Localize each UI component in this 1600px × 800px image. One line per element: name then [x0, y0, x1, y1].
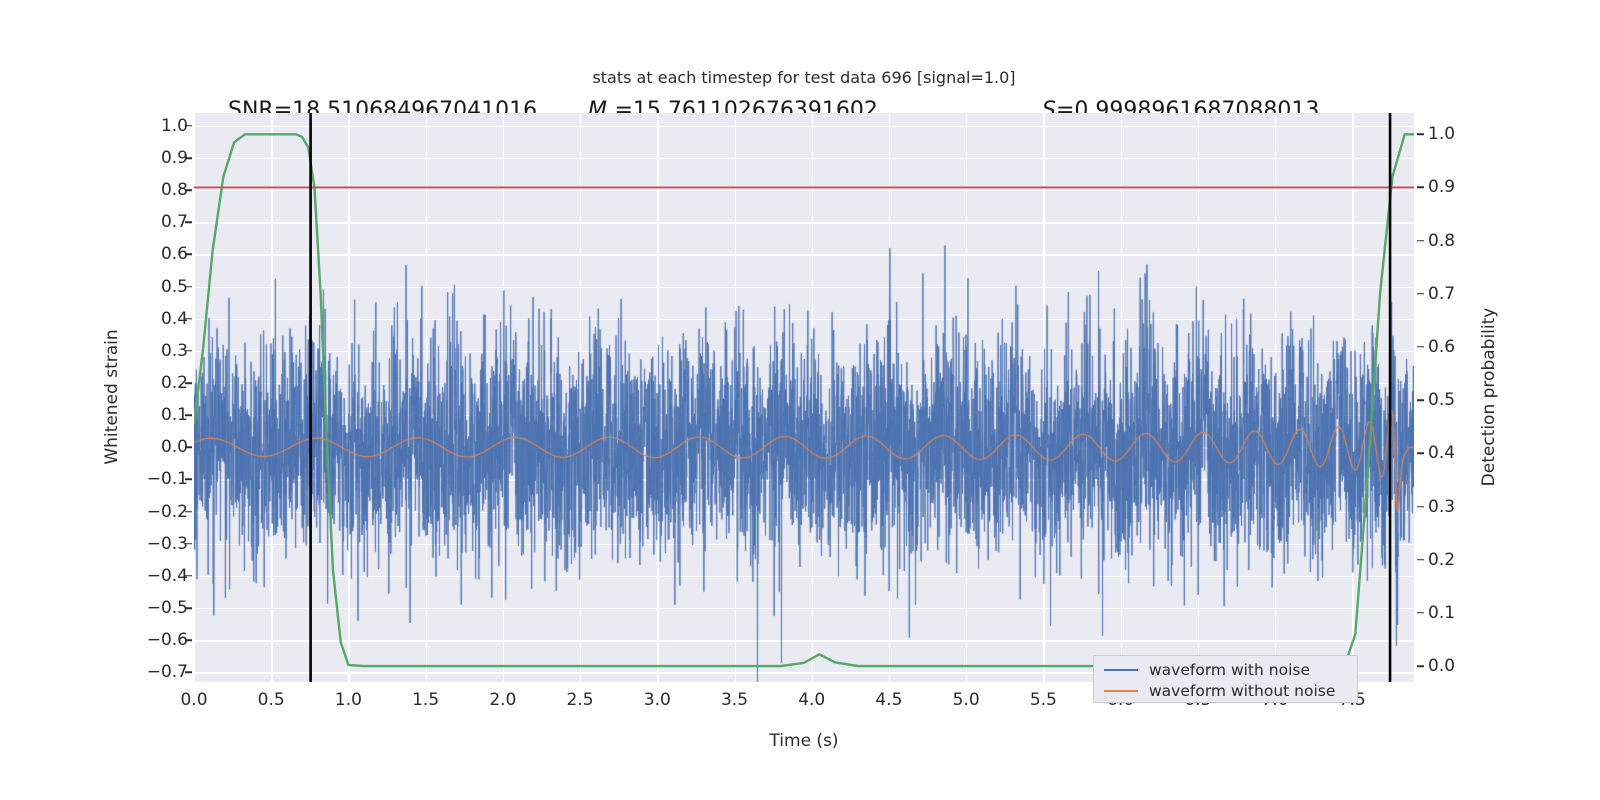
y-tick-label-right: 0.4 [1428, 443, 1455, 463]
y-tick-mark-left [185, 286, 192, 288]
y-tick-label-right: 0.8 [1428, 231, 1455, 251]
y-tick-mark-left [185, 575, 192, 577]
y-tick-mark-left [185, 350, 192, 352]
y-tick-mark-left [185, 318, 192, 320]
y-tick-label-left: −0.7 [147, 662, 188, 682]
x-axis-label: Time (s) [769, 731, 838, 751]
x-tick-label: 4.0 [798, 690, 825, 710]
y-tick-label-right: 0.9 [1428, 177, 1455, 197]
y-tick-label-left: −0.1 [147, 469, 188, 489]
y-tick-mark-left [185, 447, 192, 449]
x-tick-label: 3.0 [644, 690, 671, 710]
y-tick-mark-right [1417, 665, 1424, 667]
legend-label-without-noise: waveform without noise [1149, 682, 1335, 700]
y-tick-label-left: 0.1 [161, 405, 188, 425]
y-tick-mark-right [1417, 240, 1424, 242]
y-tick-mark-right [1417, 399, 1424, 401]
y-tick-mark-left [185, 414, 192, 416]
y-tick-mark-right [1417, 612, 1424, 614]
y-tick-label-left: 1.0 [161, 116, 188, 136]
y-tick-mark-right [1417, 453, 1424, 455]
y-tick-mark-right [1417, 134, 1424, 136]
legend-swatch-with-noise [1104, 669, 1138, 671]
y-tick-label-left: 0.3 [161, 341, 188, 361]
matplotlib-figure: stats at each timestep for test data 696… [0, 0, 1600, 800]
y-tick-label-left: −0.4 [147, 566, 188, 586]
y-tick-label-left: −0.2 [147, 502, 188, 522]
y-tick-mark-left [185, 382, 192, 384]
x-tick-label: 0.0 [180, 690, 207, 710]
detection-probability-line [194, 134, 1414, 666]
x-tick-label: 1.0 [335, 690, 362, 710]
y-tick-mark-right [1417, 187, 1424, 189]
x-tick-label: 3.5 [721, 690, 748, 710]
y-tick-label-right: 0.3 [1428, 497, 1455, 517]
y-tick-mark-right [1417, 293, 1424, 295]
y-tick-mark-left [185, 543, 192, 545]
legend-label-with-noise: waveform with noise [1149, 661, 1310, 679]
y-tick-label-right: 0.7 [1428, 284, 1455, 304]
legend-swatch-without-noise [1104, 690, 1138, 692]
y-tick-mark-left [185, 672, 192, 674]
x-tick-label: 5.0 [953, 690, 980, 710]
y-tick-label-left: 0.8 [161, 180, 188, 200]
y-tick-mark-right [1417, 506, 1424, 508]
y-tick-label-right: 0.0 [1428, 656, 1455, 676]
y-tick-mark-left [185, 639, 192, 641]
x-tick-label: 2.5 [567, 690, 594, 710]
y-tick-label-left: 0.9 [161, 148, 188, 168]
x-tick-label: 1.5 [412, 690, 439, 710]
y-axis-label-left: Whitened strain [102, 329, 122, 464]
x-tick-label: 4.5 [875, 690, 902, 710]
y-tick-label-left: −0.5 [147, 598, 188, 618]
y-tick-label-right: 0.1 [1428, 603, 1455, 623]
legend[interactable]: waveform with noise waveform without noi… [1093, 655, 1358, 703]
y-axis-label-right: Detection probability [1479, 308, 1499, 487]
y-tick-label-left: 0.7 [161, 212, 188, 232]
x-tick-label: 5.5 [1030, 690, 1057, 710]
y-tick-label-right: 0.5 [1428, 390, 1455, 410]
y-tick-mark-left [185, 125, 192, 127]
legend-item[interactable]: waveform with noise [1094, 659, 1357, 680]
y-tick-label-left: −0.6 [147, 630, 188, 650]
page-title: stats at each timestep for test data 696… [592, 68, 1015, 87]
y-tick-mark-left [185, 222, 192, 224]
legend-item[interactable]: waveform without noise [1094, 680, 1357, 701]
y-tick-label-right: 0.6 [1428, 337, 1455, 357]
y-tick-mark-left [185, 479, 192, 481]
y-tick-mark-left [185, 157, 192, 159]
y-tick-label-left: 0.5 [161, 277, 188, 297]
y-tick-mark-left [185, 511, 192, 513]
y-tick-label-left: 0.6 [161, 244, 188, 264]
y-tick-label-left: 0.0 [161, 437, 188, 457]
x-tick-label: 2.0 [489, 690, 516, 710]
y-tick-label-left: −0.3 [147, 534, 188, 554]
y-tick-label-left: 0.4 [161, 309, 188, 329]
y-tick-mark-right [1417, 559, 1424, 561]
y-tick-mark-left [185, 189, 192, 191]
y-tick-mark-left [185, 607, 192, 609]
overlay-svg [194, 113, 1414, 682]
y-tick-label-left: 0.2 [161, 373, 188, 393]
y-tick-label-right: 0.2 [1428, 550, 1455, 570]
plot-area [194, 113, 1414, 682]
y-tick-label-right: 1.0 [1428, 124, 1455, 144]
x-tick-label: 0.5 [258, 690, 285, 710]
y-tick-mark-right [1417, 346, 1424, 348]
y-tick-mark-left [185, 254, 192, 256]
